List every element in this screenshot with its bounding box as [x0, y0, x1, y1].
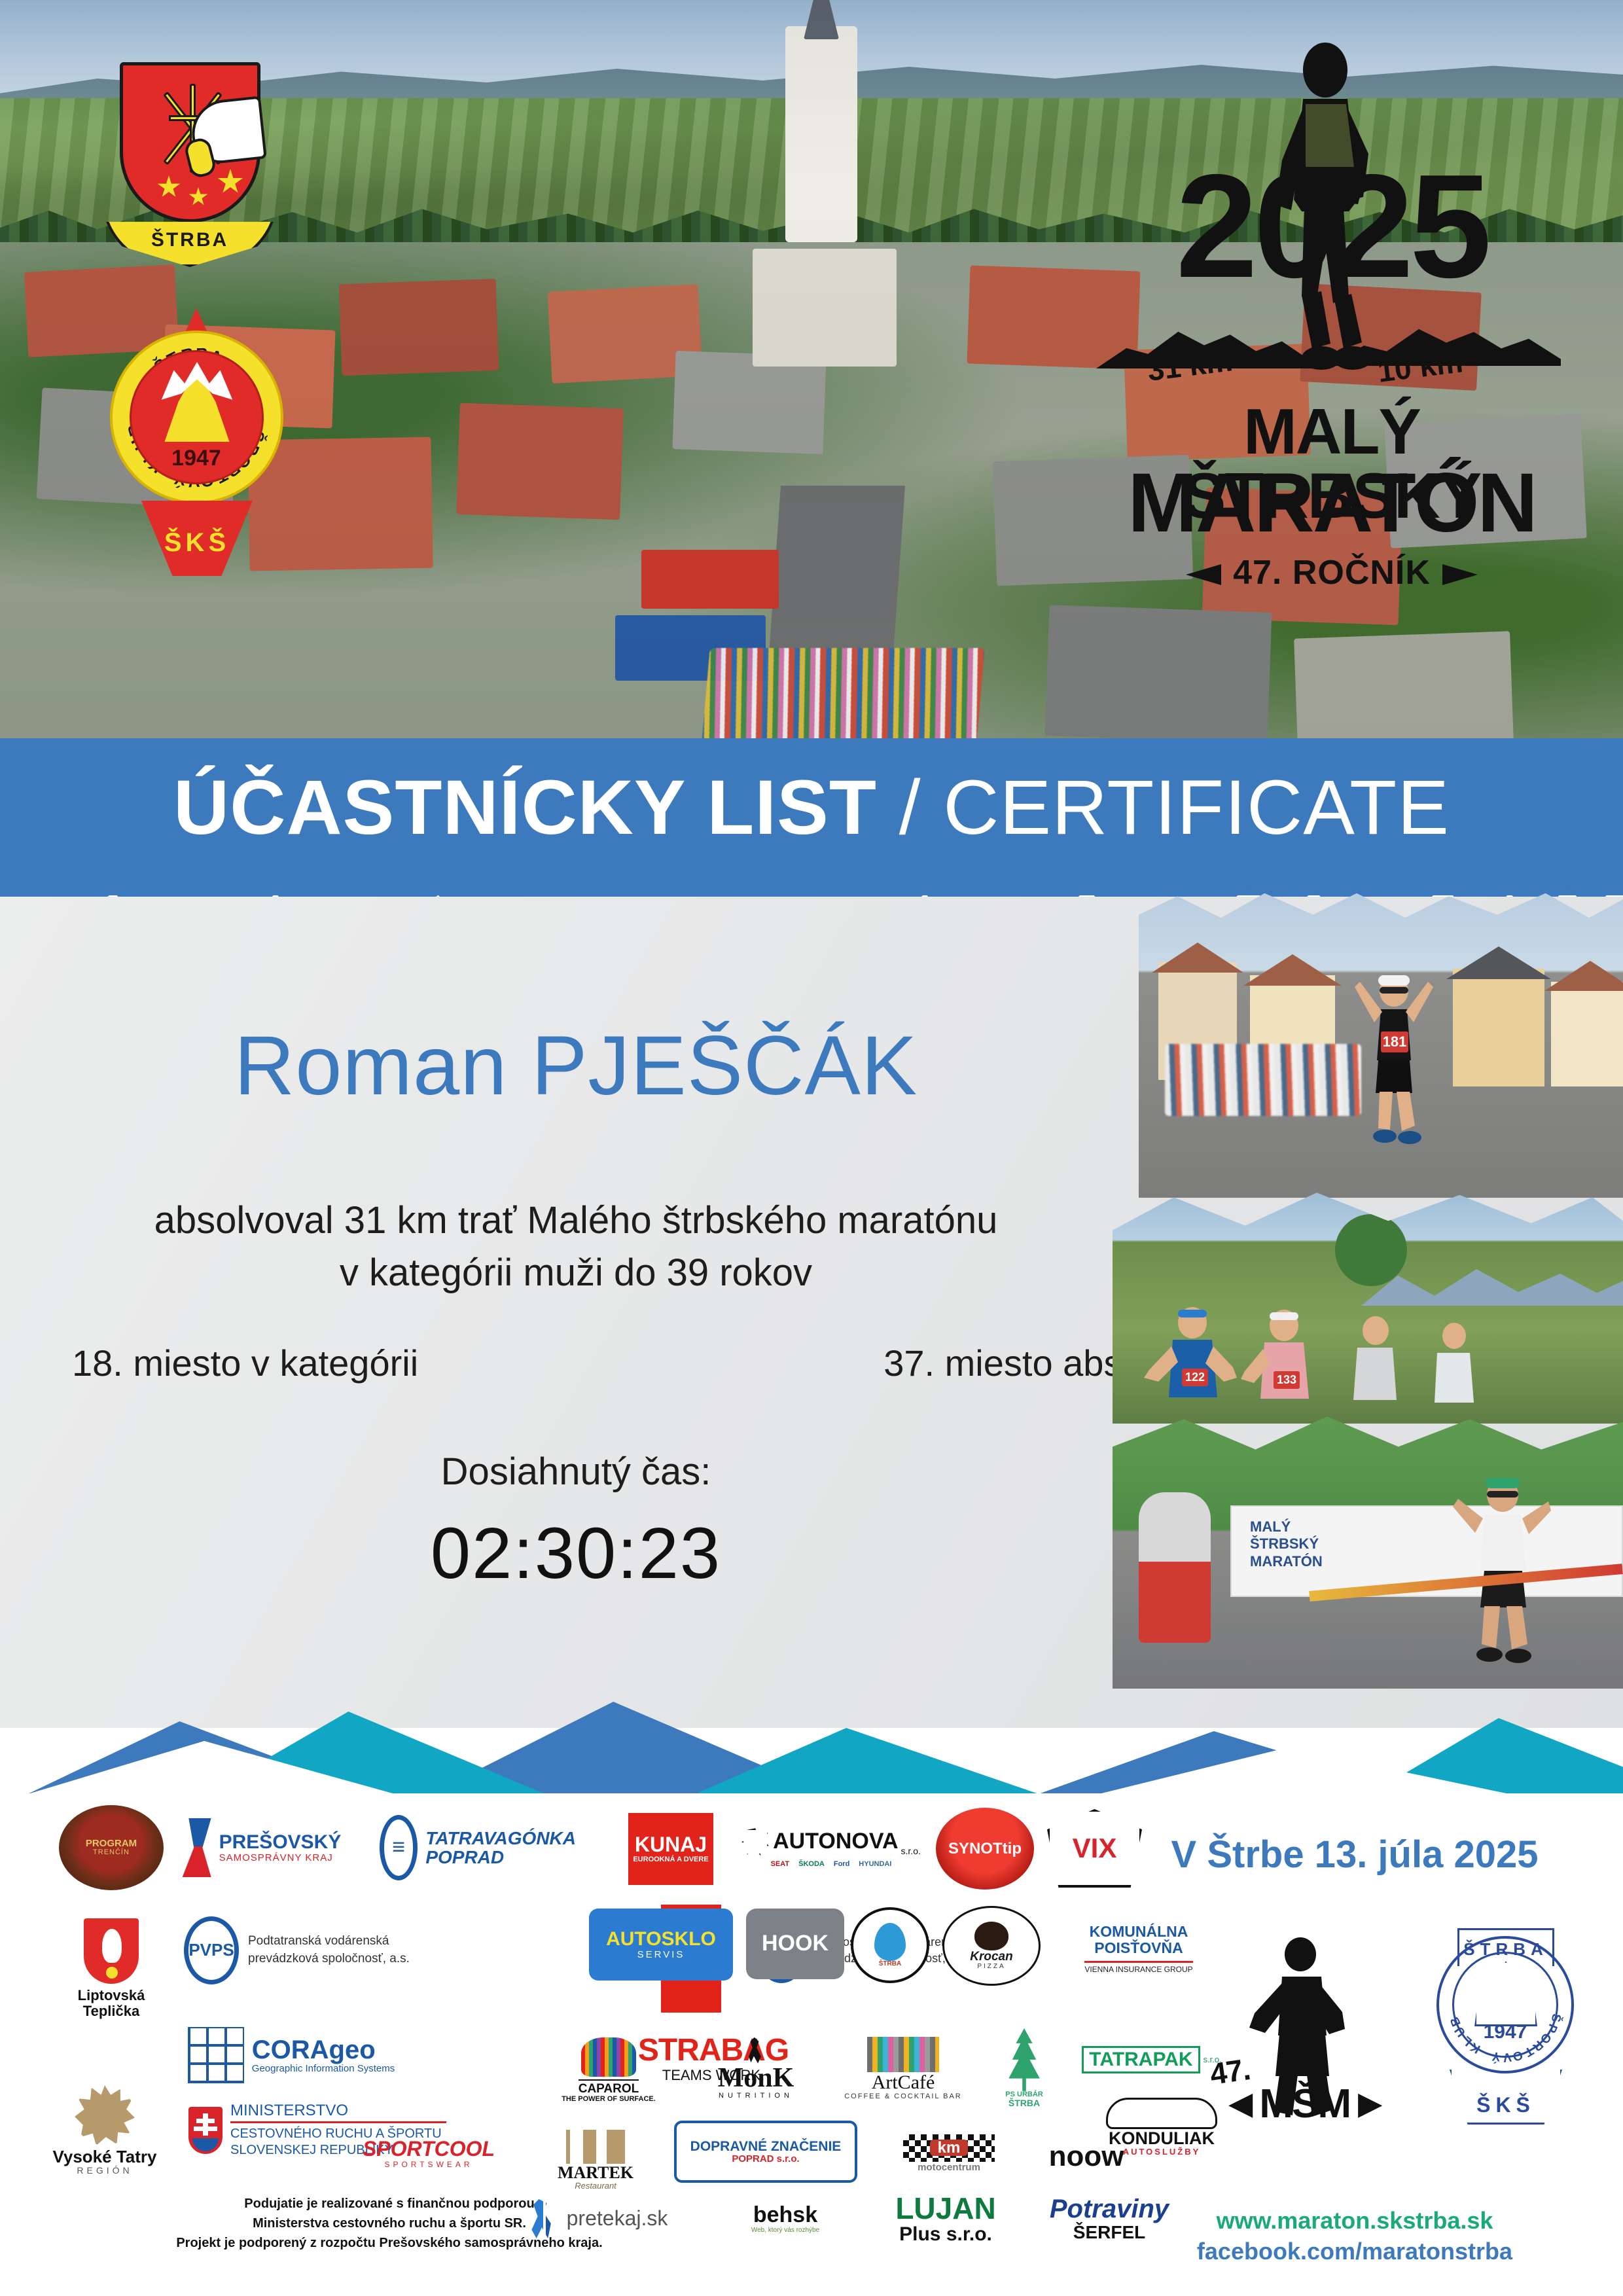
sponsor-logo-autosklo: AUTOSKLO SERVIS [589, 1909, 733, 1981]
sponsor-name: HOOK [762, 1932, 829, 1956]
crest-star-icon [188, 187, 208, 207]
sponsor-logo-ps-urbar-strba: PS URBÁR ŠTRBA [975, 2022, 1073, 2114]
sponsor-logo-kunaj: KUNAJ EUROOKNÁ A DVERE [628, 1813, 713, 1885]
sponsor-name: Vysoké Tatry [53, 2148, 157, 2166]
sponsor-name: behsk [753, 2204, 817, 2227]
sponsor-sub: SPORTSWEAR [384, 2161, 473, 2169]
sponsor-sub: SERVIS [637, 1950, 685, 1960]
house-roof [1544, 961, 1623, 991]
house [1551, 982, 1623, 1086]
turkey-icon [974, 1922, 1008, 1950]
sports-club-crest-icon: ŠTRBA ŠPORTOVÝ KLUB 1947 ŠKŠ [98, 324, 294, 586]
sponsor-name: TATRAVAGÓNKA [425, 1829, 576, 1848]
facebook-url[interactable]: facebook.com/maratonstrba [1145, 2236, 1564, 2267]
sponsor-logo-monk: MonK NUTRITION [690, 2028, 821, 2109]
funding-note-line-3: Projekt je podporený z rozpočtu Prešovsk… [62, 2233, 717, 2253]
cutlery-icon [566, 2130, 625, 2164]
distance-row: 31 km 10 km [1096, 311, 1567, 396]
sks-stamp-arc: ŠPORTOVÝ KLUB [1436, 1936, 1574, 2073]
sks-stamp-icon: ŠTRBA 1947 ŠPORTOVÝ KLUB ŠKŠ [1423, 1924, 1587, 2134]
sponsor-logo-hook: HOOK [746, 1909, 844, 1979]
finish-photo: 181 [1139, 890, 1623, 1198]
sponsor-name: VIX [1073, 1834, 1117, 1863]
bib-number: 181 [1381, 1031, 1408, 1052]
issue-date: V Štrbe 13. júla 2025 [1145, 1833, 1564, 1876]
banner-title: ÚČASTNÍCKY LIST / CERTIFICATE [0, 763, 1623, 852]
teplicka-crest-icon [84, 1918, 139, 1984]
sponsor-logo-liptovska-teplicka: Liptovská Teplička [56, 1908, 167, 2029]
sponsor-sub: ŠERFEL [1073, 2223, 1145, 2242]
crest-year: 1947 [98, 446, 294, 471]
description-line-2: v kategórii muži do 39 rokov [0, 1247, 1152, 1299]
house-roof [1152, 942, 1243, 973]
sponsor-name: LUJAN [895, 2193, 995, 2224]
sponsor-sub: POPRAD [425, 1848, 576, 1867]
website-url[interactable]: www.maraton.skstrba.sk [1145, 2206, 1564, 2236]
artcafe-bars-icon [867, 2037, 939, 2072]
house-roof [1446, 946, 1551, 979]
event-year: 2025 [1090, 167, 1574, 285]
sponsor-logo-tatrapak: TATRAPAK s.r.o. [1086, 2024, 1217, 2096]
sponsor-sub: ŠTRBA [879, 1961, 901, 1968]
sponsor-logo-lujan-plus: LUJAN Plus s.r.o. [870, 2179, 1021, 2258]
description-line-1: absolvoval 31 km trať Malého štrbského m… [0, 1194, 1152, 1247]
sponsor-logo-presovsky-kraj: PREŠOVSKÝ SAMOSPRÁVNY KRAJ [177, 1812, 347, 1884]
arc-char: O [1510, 2047, 1524, 2064]
sponsor-name: MARTEK [558, 2164, 633, 2181]
sponsor-logo-tatravagonka: ≡ TATRAVAGÓNKA POPRAD [380, 1812, 576, 1884]
sponsor-name: SPORTCOOL [363, 2138, 495, 2161]
sponsor-logo-autonova: AUTONOVA s.r.o. SEAT ŠKODA Ford HYUNDAI [740, 1809, 923, 1888]
sponsor-sub: Teplička [83, 2003, 139, 2018]
sponsor-sub: PIZZA [977, 1964, 1005, 1971]
banner-title-sk: ÚČASTNÍCKY LIST [173, 764, 877, 851]
msm-abbrev-label: ◄MŠM► [1221, 2081, 1389, 2127]
sponsor-name: PREŠOVSKÝ [219, 1832, 342, 1853]
funding-note-line-1: Podujatie je realizované s finančnou pod… [62, 2194, 717, 2214]
sponsor-sub: Web, ktorý vás rozhýbe [751, 2227, 819, 2234]
sponsor-name: TATRAPAK [1082, 2046, 1200, 2073]
sponsor-name: KUNAJ [635, 1834, 707, 1856]
sponsor-logo-sportcool: SPORTCOOL SPORTSWEAR [353, 2121, 504, 2186]
arc-char: V [1502, 2049, 1512, 2064]
sponsor-name: MINISTERSTVO [230, 2102, 446, 2123]
female-runner: 181 [1355, 969, 1433, 1158]
place-in-category: 18. miesto v kategórii [72, 1342, 418, 1384]
time-label: Dosiahnutý čas: [0, 1450, 1152, 1494]
spectator-crowd [1165, 1044, 1361, 1116]
sponsor-sub: EUROOKNÁ A DVERE [633, 1856, 708, 1864]
sponsor-name: CORAgeo [252, 2036, 395, 2064]
sponsor-logo-krocan-pizza: Krocan PIZZA [942, 1906, 1041, 1986]
participant-name: Roman PJEŠČÁK [0, 1018, 1152, 1114]
sponsor-name: noow [1049, 2142, 1124, 2172]
folk-costume-person [1139, 1492, 1211, 1643]
sponsor-logo-synottip: SYNOTtip [936, 1808, 1034, 1890]
caparol-elephant-icon [581, 2037, 636, 2077]
car-brand-row: SEAT ŠKODA Ford HYUNDAI [771, 1861, 892, 1869]
sponsor-logo-behsk: behsk Web, ktorý vás rozhýbe [707, 2186, 864, 2251]
house-roof [1243, 954, 1342, 986]
waterdrop-icon [874, 1923, 906, 1961]
sponsor-sub: SAMOSPRÁVNY KRAJ [219, 1853, 342, 1863]
pvps-mark-icon: PVPS [184, 1916, 239, 1984]
funding-note-line-2: Ministerstva cestovného ruchu a športu S… [62, 2214, 717, 2233]
sponsor-sub: NUTRITION [719, 2092, 793, 2100]
sponsor-name: ArtCafé [872, 2072, 935, 2093]
sponsor-logo-vix: VIX [1047, 1809, 1142, 1888]
sponsor-logo-komunalna-poistovna: KOMUNÁLNA POISŤOVŇA VIENNA INSURANCE GRO… [1047, 1912, 1230, 1984]
sponsor-name: Krocan [970, 1950, 1012, 1964]
spruce-tree-icon [1001, 2028, 1047, 2091]
sponsor-sub: TRENČÍN [93, 1849, 130, 1857]
sponsor-name: PROGRAM [86, 1839, 137, 1849]
sponsor-name: km [930, 2140, 969, 2156]
sponsor-logo-artcafe: ArtCafé COFFEE & COCKTAIL BAR [838, 2026, 969, 2111]
crest-star-icon [157, 175, 181, 199]
sponsor-sub: ŠTRBA [1008, 2098, 1040, 2108]
trail-photo: 133 122 [1113, 1188, 1623, 1424]
bib-number: 133 [1274, 1371, 1300, 1389]
house [1453, 969, 1544, 1086]
sponsor-logo-pd-strba: ŠTRBA [851, 1907, 929, 1983]
runner-group: 133 122 [1132, 1299, 1603, 1424]
contact-urls: www.maraton.skstrba.sk facebook.com/mara… [1145, 2206, 1564, 2267]
arc-char: Š [1548, 2013, 1563, 2023]
sponsor-logo-vysoke-tatry: Vysoké Tatry REGIÓN [39, 2075, 170, 2186]
dart-left-icon [1186, 564, 1221, 585]
sponsor-sub: VIENNA INSURANCE GROUP [1084, 1961, 1192, 1974]
slovak-coat-of-arms-icon [188, 2107, 223, 2154]
presov-mark-icon [183, 1818, 211, 1877]
funding-note: Podujatie je realizované s finančnou pod… [62, 2194, 717, 2253]
banner-text: MALÝŠTRBSKÝMARATÓN [1250, 1518, 1323, 1570]
tatry-sun-icon [75, 2085, 135, 2145]
sponsor-sub: Podtatranská vodárenská prevádzková spol… [248, 1933, 451, 1967]
sponsor-sub: THE POWER OF SURFACE. [562, 2096, 656, 2104]
sponsor-logo-program-trencin: PROGRAM TRENČÍN [59, 1805, 164, 1890]
placement-row: 18. miesto v kategórii 37. miesto abs. [72, 1342, 1132, 1384]
crest-ribbon-label: ŠTRBA [104, 229, 276, 251]
brand-skoda-label: ŠKODA [798, 1861, 825, 1869]
sponsor-sub: REGIÓN [77, 2166, 132, 2176]
finish-time-value: 02:30:23 [0, 1512, 1152, 1595]
event-logo: 2025 31 km 10 km MALÝ ŠTRBSKÝ MARATÓN 47… [1090, 36, 1574, 605]
sponsor-logo-caparol: CAPAROL THE POWER OF SURFACE. [550, 2028, 668, 2113]
dart-right-icon [1442, 564, 1478, 585]
sponsor-name: DOPRAVNÉ ZNAČENIE [690, 2140, 842, 2154]
banner-title-en: CERTIFICATE [943, 764, 1450, 851]
crest-shield [120, 62, 260, 223]
sponsor-sub: Geographic Information Systems [252, 2064, 395, 2074]
sponsor-sub: COFFEE & COCKTAIL BAR [844, 2093, 962, 2101]
sponsor-name: AUTOSKLO [606, 1929, 716, 1950]
msm-badge-icon: 47. ◄MŠM► [1214, 1931, 1384, 2127]
sponsor-logo-pvps: PVPS Podtatranská vodárenská prevádzková… [177, 1914, 458, 1986]
certificate-description: absolvoval 31 km trať Malého štrbského m… [0, 1194, 1152, 1299]
tree [1335, 1214, 1407, 1286]
brand-seat-label: SEAT [771, 1861, 790, 1869]
runner-figure-icon [1355, 969, 1433, 1158]
arc-char: Ý [1491, 2049, 1501, 2064]
bib-number: 122 [1182, 1369, 1208, 1386]
sponsor-logo-dopravne-znacenie: DOPRAVNÉ ZNAČENIE POPRAD s.r.o. [674, 2121, 857, 2183]
sponsor-sub: Plus s.r.o. [899, 2224, 992, 2245]
sponsor-sub: s.r.o. [901, 1846, 921, 1856]
corageo-grid-icon [188, 2027, 244, 2083]
sponsor-name: SYNOTtip [948, 1840, 1022, 1857]
tatravagonka-mark-icon: ≡ [380, 1815, 418, 1880]
crest-bottom-banner: ŠKŠ [141, 501, 253, 576]
runners-icon [1132, 1299, 1603, 1424]
photo-collage: 181 [1099, 890, 1623, 1728]
sponsor-sub: motocentrum [918, 2162, 980, 2173]
starburst-icon [741, 1828, 769, 1856]
event-edition: 47. ROČNÍK [1090, 553, 1574, 592]
crest-bottom-label: ŠKŠ [141, 528, 253, 558]
sponsor-name: CAPAROL [579, 2079, 639, 2096]
strba-municipal-crest-icon: ŠTRBA [101, 62, 278, 278]
event-title-line2: MARATÓN [1090, 461, 1574, 545]
sponsor-sub: POPRAD s.r.o. [732, 2154, 799, 2164]
brand-ford-label: Ford [834, 1861, 849, 1869]
finish-line-photo: MALÝŠTRBSKÝMARATÓN [1113, 1414, 1623, 1689]
sponsor-logo-km-motocentrum: km motocentrum [877, 2117, 1021, 2189]
sponsor-name: Liptovská [78, 1988, 145, 2003]
monk-figure-icon [749, 2037, 763, 2064]
sponsor-name: MonK [718, 2064, 794, 2092]
sponsor-name: AUTONOVA [773, 1830, 898, 1854]
banner-separator: / [877, 764, 943, 851]
certificate-page: ŠTART ŠTRBA ŠTRBA ŠPORTOVÝ KLUB 1947 [0, 0, 1623, 2296]
sponsor-name: KOMUNÁLNA POISŤOVŇA [1047, 1924, 1230, 1957]
brand-hyundai-label: HYUNDAI [859, 1861, 891, 1869]
sks-stamp-bottom-label: ŠKŠ [1450, 2070, 1562, 2125]
place-absolute: 37. miesto abs. [883, 1342, 1132, 1384]
msm-abbrev-text: MŠM [1259, 2081, 1350, 2126]
crest-star-icon [217, 169, 243, 195]
event-edition-label: 47. ROČNÍK [1233, 554, 1431, 592]
